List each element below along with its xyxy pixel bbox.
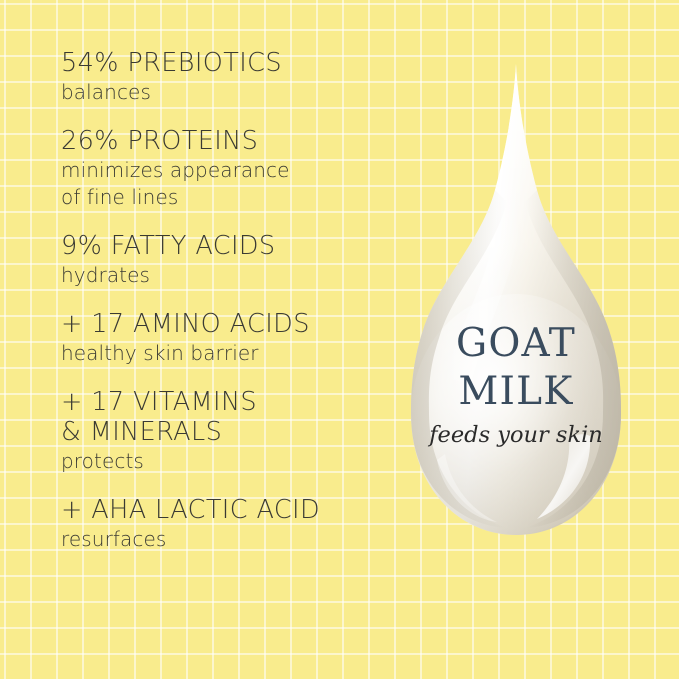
list-item: + 17 AMINO ACIDS healthy skin barrier (61, 309, 391, 367)
ingredient-name: + 17 VITAMINS & MINERALS (61, 387, 391, 447)
list-item: 9% FATTY ACIDS hydrates (61, 231, 391, 289)
milk-droplet-graphic: GOAT MILK feeds your skin (385, 62, 647, 544)
list-item: 26% PROTEINS minimizes appearance of fin… (61, 126, 391, 211)
ingredient-name: + 17 AMINO ACIDS (61, 309, 391, 339)
ingredient-name: 9% FATTY ACIDS (61, 231, 391, 261)
ingredient-name: 54% PREBIOTICS (61, 48, 391, 78)
droplet-icon (385, 62, 647, 544)
ingredient-benefit: hydrates (61, 262, 391, 289)
ingredient-name: 26% PROTEINS (61, 126, 391, 156)
ingredient-benefit: minimizes appearance of fine lines (61, 157, 391, 211)
ingredient-name: + AHA LACTIC ACID (61, 495, 391, 525)
ingredient-benefit: balances (61, 79, 391, 106)
ingredient-list: 54% PREBIOTICS balances 26% PROTEINS min… (61, 48, 391, 553)
ingredient-benefit: protects (61, 448, 391, 475)
ingredient-infographic: 54% PREBIOTICS balances 26% PROTEINS min… (0, 0, 679, 679)
ingredient-benefit: resurfaces (61, 526, 391, 553)
list-item: 54% PREBIOTICS balances (61, 48, 391, 106)
ingredient-benefit: healthy skin barrier (61, 340, 391, 367)
list-item: + AHA LACTIC ACID resurfaces (61, 495, 391, 553)
list-item: + 17 VITAMINS & MINERALS protects (61, 387, 391, 475)
